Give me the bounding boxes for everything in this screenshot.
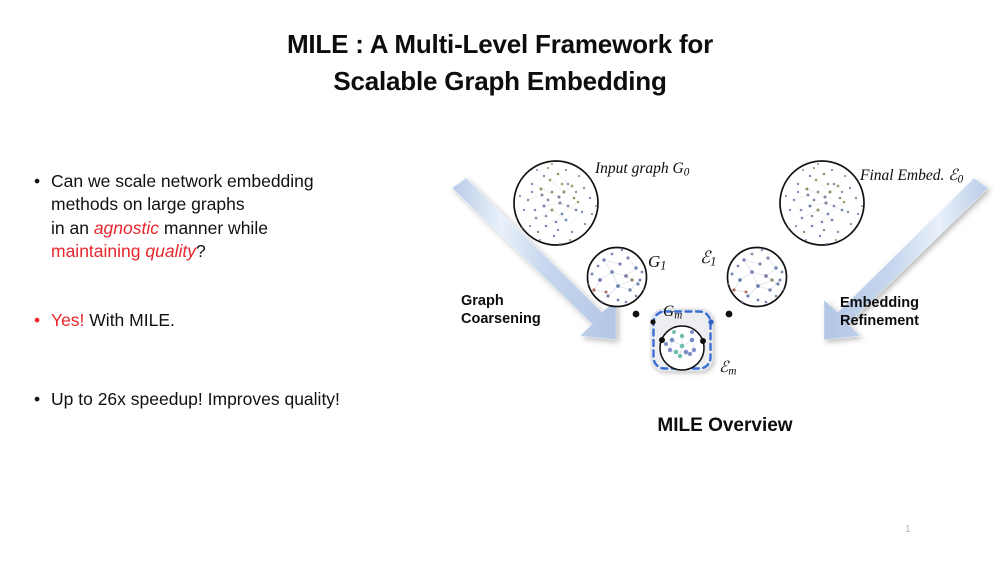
label-e1: ℰ1 (700, 248, 716, 270)
g1-circle (587, 248, 647, 307)
final-embed-circle (775, 161, 864, 245)
bullet-item-2: • Yes! With MILE. (30, 309, 430, 332)
label-embedding-refinement: Embedding Refinement (840, 295, 919, 331)
ellipsis-dot-right (726, 311, 733, 318)
bullet-line: Can we scale network embedding (51, 170, 430, 193)
bullet-line: Up to 26x speedup! Improves quality! (51, 388, 430, 411)
input-graph-circle (509, 161, 601, 245)
label-gm: Gm (663, 303, 682, 321)
label-graph-coarsening: Graph Coarsening (461, 293, 541, 329)
bullet-line: Yes! With MILE. (51, 309, 430, 332)
label-g1: G1 (648, 252, 666, 274)
bullet-marker: • (34, 170, 40, 193)
bullet-list: • Can we scale network embedding methods… (30, 170, 430, 412)
title-line-2: Scalable Graph Embedding (0, 63, 1000, 100)
label-final-embed: Final Embed. ℰ0 (860, 166, 963, 185)
diagram-caption: MILE Overview (560, 415, 890, 437)
page-number: 1 (905, 524, 911, 535)
label-input-graph: Input graph G0 (595, 160, 689, 178)
page-title: MILE : A Multi-Level Framework for Scala… (0, 26, 1000, 100)
bullet-item-1: • Can we scale network embedding methods… (30, 170, 430, 263)
bullet-line: in an agnostic manner while (51, 217, 430, 240)
ellipsis-dot-left (633, 311, 640, 318)
bullet-line: methods on large graphs (51, 193, 430, 216)
bullet-marker: • (34, 388, 40, 411)
e1-circle (727, 248, 787, 307)
bullet-line: maintaining quality? (51, 240, 430, 263)
bullet-item-3: • Up to 26x speedup! Improves quality! (30, 388, 430, 411)
title-line-1: MILE : A Multi-Level Framework for (0, 26, 1000, 63)
bullet-marker: • (34, 309, 40, 332)
label-em: ℰm (719, 358, 736, 377)
